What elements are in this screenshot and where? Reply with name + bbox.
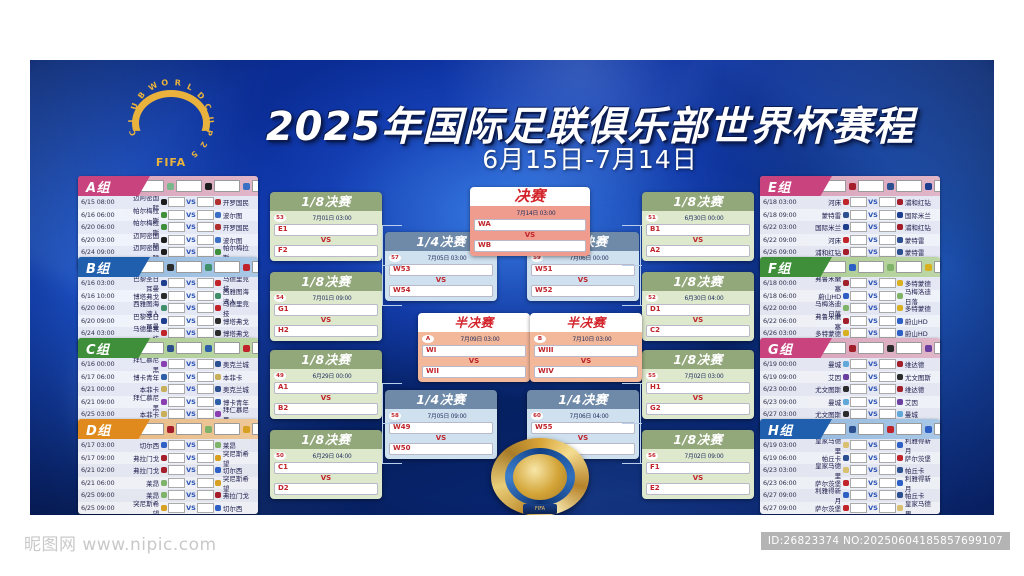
group-team-slot[interactable]: [887, 261, 922, 273]
team-input-box[interactable]: [252, 180, 258, 192]
home-score-box[interactable]: [168, 372, 185, 382]
home-score-box[interactable]: [850, 465, 867, 475]
group-team-slot[interactable]: [887, 423, 922, 435]
home-score-box[interactable]: [850, 490, 867, 500]
away-team-name: 国际米兰: [903, 210, 937, 220]
vs-label: VS: [868, 504, 878, 512]
home-score-box[interactable]: [850, 384, 867, 394]
home-team-name: 艾因: [809, 372, 843, 382]
away-slot[interactable]: E2: [646, 483, 750, 495]
away-score-box[interactable]: [879, 465, 896, 475]
group-name-badge: F组: [760, 257, 832, 277]
match-datetime: 6/19 03:00: [763, 441, 809, 449]
round16-match-55[interactable]: 1/8决赛557月02日 03:00H1VSG2: [642, 350, 754, 419]
team-input-box[interactable]: [214, 423, 240, 435]
home-score-box[interactable]: [850, 316, 867, 326]
home-crest-icon: [843, 249, 849, 255]
team-crest-icon: [243, 426, 250, 433]
vs-label: VS: [186, 279, 196, 287]
home-score-box[interactable]: [168, 440, 185, 450]
away-score-box[interactable]: [879, 222, 896, 232]
home-score-box[interactable]: [168, 478, 185, 488]
away-score-box[interactable]: [879, 303, 896, 313]
match-number: 49: [274, 372, 286, 380]
away-score-box[interactable]: [197, 222, 214, 232]
home-crest-icon: [161, 199, 167, 205]
round-title: 决赛: [470, 187, 590, 206]
team-input-box[interactable]: [896, 180, 922, 192]
home-score-box[interactable]: [168, 490, 185, 500]
group-header: E组: [760, 176, 940, 196]
vs-label: VS: [868, 360, 878, 368]
team-input-box[interactable]: [252, 261, 258, 273]
group-team-slot[interactable]: [925, 180, 940, 192]
away-score-box[interactable]: [879, 197, 896, 207]
vs-label: VS: [186, 236, 196, 244]
group-team-slot[interactable]: [243, 342, 258, 354]
team-input-box[interactable]: [176, 180, 202, 192]
group-team-slot[interactable]: [925, 342, 940, 354]
team-input-box[interactable]: [896, 261, 922, 273]
group-team-slot[interactable]: [887, 180, 922, 192]
vs-label: VS: [868, 466, 878, 474]
home-crest-icon: [161, 399, 167, 405]
away-score-box[interactable]: [879, 316, 896, 326]
home-slot[interactable]: C1: [274, 462, 378, 474]
home-slot[interactable]: B1: [646, 224, 750, 236]
round-body: 567月02日 09:00F1VSE2: [642, 449, 754, 499]
trophy-base-label: FIFA: [523, 504, 557, 514]
home-score-box[interactable]: [850, 478, 867, 488]
away-score-box[interactable]: [197, 372, 214, 382]
away-score-box[interactable]: [197, 359, 214, 369]
group-team-slot[interactable]: [205, 342, 240, 354]
home-slot[interactable]: F1: [646, 462, 750, 474]
team-crest-icon: [849, 345, 856, 352]
group-team-slot[interactable]: [243, 423, 258, 435]
home-score-box[interactable]: [168, 316, 185, 326]
team-input-box[interactable]: [858, 261, 884, 273]
home-score-box[interactable]: [850, 503, 867, 513]
team-input-box[interactable]: [214, 342, 240, 354]
match-time: 7月05日 09:00: [401, 411, 493, 420]
away-team-name: 浦和红钻: [903, 222, 937, 232]
away-score-box[interactable]: [197, 478, 214, 488]
home-crest-icon: [161, 442, 167, 448]
team-input-box[interactable]: [934, 423, 940, 435]
home-score-box[interactable]: [168, 359, 185, 369]
home-score-box[interactable]: [850, 372, 867, 382]
team-input-box[interactable]: [176, 261, 202, 273]
team-input-box[interactable]: [896, 423, 922, 435]
home-score-box[interactable]: [850, 235, 867, 245]
vs-label: VS: [274, 236, 378, 245]
home-crest-icon: [161, 293, 167, 299]
match-datetime: 6/22 00:00: [763, 304, 809, 312]
away-slot[interactable]: F2: [274, 245, 378, 257]
group-team-slot[interactable]: [243, 261, 258, 273]
home-score-box[interactable]: [168, 303, 185, 313]
group-team-slot[interactable]: [925, 261, 940, 273]
home-crest-icon: [843, 374, 849, 380]
group-match-row: 6/16 00:00拜仁慕尼黑VS奥克兰城: [78, 358, 258, 371]
team-crest-icon: [243, 345, 250, 352]
away-score-box[interactable]: [197, 440, 214, 450]
match-time: 7月06日 04:00: [543, 411, 635, 420]
match-time: 7月01日 09:00: [286, 293, 378, 302]
away-team-name: 切尔西: [221, 503, 255, 513]
vs-label: VS: [868, 223, 878, 231]
away-score-box[interactable]: [197, 465, 214, 475]
match-time: 7月02日 09:00: [658, 451, 750, 460]
home-team-name: 博卡青年: [127, 372, 161, 382]
vs-label: VS: [186, 223, 196, 231]
away-slot[interactable]: C2: [646, 325, 750, 337]
match-meta: 506月29日 04:00: [274, 451, 378, 460]
group-name-badge: D组: [78, 419, 150, 439]
group-match-row: 6/17 09:00弗拉门戈VS突尼斯希望: [78, 452, 258, 465]
group-team-slot[interactable]: [849, 261, 884, 273]
round16-match-54[interactable]: 1/8决赛547月01日 09:00G1VSH2: [270, 272, 382, 341]
away-score-box[interactable]: [197, 453, 214, 463]
home-score-box[interactable]: [850, 278, 867, 288]
away-slot[interactable]: A2: [646, 245, 750, 257]
bracket-connector: [382, 225, 402, 226]
home-score-box[interactable]: [168, 210, 185, 220]
match-number: 55: [646, 372, 658, 380]
home-crest-icon: [843, 280, 849, 286]
vs-label: VS: [868, 279, 878, 287]
home-slot[interactable]: A1: [274, 382, 378, 394]
home-slot[interactable]: E1: [274, 224, 378, 236]
away-score-box[interactable]: [879, 490, 896, 500]
group-team-slot[interactable]: [849, 342, 884, 354]
round16-match-49[interactable]: 1/8决赛496月29日 00:00A1VSB2: [270, 350, 382, 419]
away-score-box[interactable]: [879, 278, 896, 288]
away-score-box[interactable]: [879, 210, 896, 220]
vs-label: VS: [868, 329, 878, 337]
match-datetime: 6/21 06:00: [81, 479, 127, 487]
home-score-box[interactable]: [168, 291, 185, 301]
vs-label: VS: [868, 491, 878, 499]
match-number: 50: [274, 452, 286, 460]
group-match-row: 6/22 06:00弗鲁米嫩塞VS蔚山HD: [760, 315, 940, 328]
home-score-box[interactable]: [850, 197, 867, 207]
group-team-slot[interactable]: [167, 423, 202, 435]
match-datetime: 6/25 03:00: [81, 410, 127, 418]
away-score-box[interactable]: [197, 503, 214, 513]
away-score-box[interactable]: [197, 247, 214, 257]
away-score-box[interactable]: [879, 478, 896, 488]
match-meta: 526月30日 04:00: [646, 293, 750, 302]
away-score-box[interactable]: [879, 359, 896, 369]
semifinal-match-b[interactable]: 半决赛B7月10日 03:00WIIIVSWIV: [530, 313, 642, 382]
trophy-graphic: FIFA WINNER: [485, 438, 595, 515]
team-crest-icon: [205, 264, 212, 271]
group-match-row: 6/22 03:00国际米兰VS浦和红钻: [760, 221, 940, 234]
round16-match-53[interactable]: 1/8决赛537月01日 03:00E1VSF2: [270, 192, 382, 261]
home-crest-icon: [843, 237, 849, 243]
away-score-box[interactable]: [879, 453, 896, 463]
vs-label: VS: [186, 211, 196, 219]
home-slot[interactable]: WIII: [534, 345, 638, 357]
team-input-box[interactable]: [858, 342, 884, 354]
vs-label: VS: [186, 304, 196, 312]
away-score-box[interactable]: [879, 440, 896, 450]
away-score-box[interactable]: [879, 409, 896, 419]
quarterfinal-match-58[interactable]: 1/4决赛587月05日 09:00W49VSW50: [385, 390, 497, 459]
group-team-slot[interactable]: [205, 261, 240, 273]
away-score-box[interactable]: [197, 328, 214, 338]
away-team-name: 维达德: [903, 384, 937, 394]
away-score-box[interactable]: [879, 291, 896, 301]
home-score-box[interactable]: [168, 247, 185, 257]
home-score-box[interactable]: [850, 440, 867, 450]
home-score-box[interactable]: [168, 397, 185, 407]
away-score-box[interactable]: [879, 384, 896, 394]
bracket-connector: [382, 463, 402, 464]
away-score-box[interactable]: [197, 278, 214, 288]
vs-label: VS: [868, 385, 878, 393]
home-crest-icon: [161, 505, 167, 511]
match-datetime: 6/21 02:00: [81, 466, 127, 474]
home-score-box[interactable]: [850, 303, 867, 313]
home-score-box[interactable]: [850, 397, 867, 407]
away-slot[interactable]: D2: [274, 483, 378, 495]
round16-match-50[interactable]: 1/8决赛506月29日 04:00C1VSD2: [270, 430, 382, 499]
group-team-slot[interactable]: [243, 180, 258, 192]
match-meta: 537月01日 03:00: [274, 213, 378, 222]
home-score-box[interactable]: [168, 503, 185, 513]
round-body: 506月29日 04:00C1VSD2: [270, 449, 382, 499]
home-slot[interactable]: G1: [274, 304, 378, 316]
home-crest-icon: [843, 480, 849, 486]
group-header: H组: [760, 419, 940, 439]
home-score-box[interactable]: [168, 222, 185, 232]
home-crest-icon: [161, 480, 167, 486]
home-slot[interactable]: W53: [389, 264, 493, 276]
match-datetime: 6/20 03:00: [81, 236, 127, 244]
away-score-box[interactable]: [879, 372, 896, 382]
team-input-box[interactable]: [858, 180, 884, 192]
home-score-box[interactable]: [850, 328, 867, 338]
group-team-slot[interactable]: [205, 180, 240, 192]
group-team-slot[interactable]: [887, 342, 922, 354]
team-input-box[interactable]: [176, 342, 202, 354]
away-score-box[interactable]: [197, 490, 214, 500]
away-score-box[interactable]: [879, 247, 896, 257]
away-slot[interactable]: WIV: [534, 366, 638, 378]
away-score-box[interactable]: [197, 235, 214, 245]
match-datetime: 6/25 09:00: [81, 491, 127, 499]
group-name-badge: H组: [760, 419, 832, 439]
team-crest-icon: [887, 264, 894, 271]
away-score-box[interactable]: [879, 235, 896, 245]
away-slot[interactable]: B2: [274, 403, 378, 415]
vs-label: VS: [186, 329, 196, 337]
home-slot[interactable]: W51: [531, 264, 635, 276]
home-team-name: 曼城: [809, 359, 843, 369]
home-slot[interactable]: W55: [531, 422, 635, 434]
round-body: A7月09日 03:00WIVSWII: [418, 332, 530, 382]
home-team-name: 尤文图斯: [809, 384, 843, 394]
away-score-box[interactable]: [197, 384, 214, 394]
away-slot[interactable]: WII: [422, 366, 526, 378]
match-datetime: 6/27 09:00: [763, 491, 809, 499]
away-slot[interactable]: W54: [389, 285, 493, 297]
team-input-box[interactable]: [934, 261, 940, 273]
round-body: 537月01日 03:00E1VSF2: [270, 211, 382, 261]
match-datetime: 6/17 09:00: [81, 454, 127, 462]
away-score-box[interactable]: [879, 328, 896, 338]
match-datetime: 6/24 03:00: [81, 329, 127, 337]
vs-label: VS: [186, 385, 196, 393]
home-score-box[interactable]: [850, 453, 867, 463]
bracket-connector: [622, 265, 642, 266]
home-crest-icon: [843, 505, 849, 511]
home-score-box[interactable]: [850, 291, 867, 301]
home-score-box[interactable]: [850, 222, 867, 232]
round16-match-51[interactable]: 1/8决赛516月30日 00:00B1VSA2: [642, 192, 754, 261]
home-score-box[interactable]: [168, 409, 185, 419]
away-slot[interactable]: G2: [646, 403, 750, 415]
home-team-name: 蒙特雷: [809, 210, 843, 220]
home-crest-icon: [161, 330, 167, 336]
round-title: 1/8决赛: [642, 272, 754, 291]
group-team-slot[interactable]: [205, 423, 240, 435]
home-team-name: 弗拉门戈: [127, 453, 161, 463]
away-score-box[interactable]: [197, 316, 214, 326]
home-team-name: 尤文图斯: [809, 409, 843, 419]
team-input-box[interactable]: [214, 261, 240, 273]
home-crest-icon: [161, 318, 167, 324]
away-team-name: 蔚山HD: [903, 316, 937, 326]
round16-match-56[interactable]: 1/8决赛567月02日 09:00F1VSE2: [642, 430, 754, 499]
home-slot[interactable]: D1: [646, 304, 750, 316]
group-match-row: 6/18 06:00蔚山HDVS马梅洛迪日落: [760, 290, 940, 303]
group-team-slot[interactable]: [167, 180, 202, 192]
away-slot[interactable]: WB: [474, 240, 586, 252]
team-crest-icon: [925, 426, 932, 433]
round-title: 半决赛: [530, 313, 642, 332]
bracket-connector: [622, 305, 642, 306]
away-score-box[interactable]: [197, 197, 214, 207]
home-score-box[interactable]: [850, 210, 867, 220]
group-name-badge: G组: [760, 338, 832, 358]
team-crest-icon: [849, 264, 856, 271]
team-input-box[interactable]: [252, 423, 258, 435]
group-team-slot[interactable]: [925, 423, 940, 435]
round-title: 1/4决赛: [527, 390, 639, 409]
bracket-connector: [622, 225, 642, 226]
group-match-row: 6/19 00:00曼城VS维达德: [760, 358, 940, 371]
match-number: 58: [389, 412, 401, 420]
group-header: A组: [78, 176, 258, 196]
team-input-box[interactable]: [858, 423, 884, 435]
home-score-box[interactable]: [850, 409, 867, 419]
home-score-box[interactable]: [850, 359, 867, 369]
home-team-name: 河床: [809, 197, 843, 207]
away-score-box[interactable]: [197, 291, 214, 301]
semifinal-match-a[interactable]: 半决赛A7月09日 03:00WIVSWII: [418, 313, 530, 382]
vs-label: VS: [274, 394, 378, 403]
team-crest-icon: [849, 183, 856, 190]
home-score-box[interactable]: [168, 384, 185, 394]
away-slot[interactable]: W50: [389, 443, 493, 455]
round-title: 1/8决赛: [270, 192, 382, 211]
vs-label: VS: [646, 316, 750, 325]
away-team-name: 奥克兰城: [221, 384, 255, 394]
team-input-box[interactable]: [214, 180, 240, 192]
home-slot[interactable]: WI: [422, 345, 526, 357]
match-number: 56: [646, 452, 658, 460]
away-slot[interactable]: H2: [274, 325, 378, 337]
round-title: 1/8决赛: [642, 192, 754, 211]
away-score-box[interactable]: [879, 503, 896, 513]
group-team-slot[interactable]: [849, 423, 884, 435]
group-match-row: 6/25 09:00莱昂VS弗拉门戈: [78, 489, 258, 502]
home-score-box[interactable]: [168, 278, 185, 288]
away-score-box[interactable]: [197, 409, 214, 419]
team-input-box[interactable]: [934, 342, 940, 354]
group-team-slot[interactable]: [849, 180, 884, 192]
round16-match-52[interactable]: 1/8决赛526月30日 04:00D1VSC2: [642, 272, 754, 341]
away-score-box[interactable]: [197, 397, 214, 407]
match-number: 54: [274, 294, 286, 302]
away-score-box[interactable]: [197, 303, 214, 313]
team-input-box[interactable]: [934, 180, 940, 192]
home-crest-icon: [161, 249, 167, 255]
group-match-row: 6/23 09:00曼城VS艾因: [760, 396, 940, 409]
match-number: 53: [274, 214, 286, 222]
group-name-badge: C组: [78, 338, 150, 358]
team-input-box[interactable]: [252, 342, 258, 354]
home-slot[interactable]: W49: [389, 422, 493, 434]
match-datetime: 6/23 09:00: [763, 398, 809, 406]
group-match-row: 6/19 03:00皇家马德里VS利雅得新月: [760, 439, 940, 452]
match-meta: A7月09日 03:00: [422, 334, 526, 343]
home-score-box[interactable]: [168, 465, 185, 475]
home-team-name: 突尼斯希望: [127, 498, 161, 514]
group-team-slot[interactable]: [167, 261, 202, 273]
home-crest-icon: [161, 467, 167, 473]
match-datetime: 6/18 03:00: [763, 198, 809, 206]
home-score-box[interactable]: [850, 247, 867, 257]
match-time: 6月30日 04:00: [658, 293, 750, 302]
group-team-slot[interactable]: [167, 342, 202, 354]
home-score-box[interactable]: [168, 453, 185, 463]
home-score-box[interactable]: [168, 235, 185, 245]
team-input-box[interactable]: [176, 423, 202, 435]
home-team-name: 本菲卡: [127, 409, 161, 419]
home-score-box[interactable]: [168, 197, 185, 207]
home-score-box[interactable]: [168, 328, 185, 338]
home-slot[interactable]: WA: [474, 219, 586, 231]
match-number: A: [422, 335, 434, 343]
final-match[interactable]: 决赛7月14日 03:00WAVSWB: [470, 187, 590, 256]
away-team-name: 博塔弗戈: [221, 316, 255, 326]
home-slot[interactable]: H1: [646, 382, 750, 394]
home-crest-icon: [161, 492, 167, 498]
team-input-box[interactable]: [896, 342, 922, 354]
away-score-box[interactable]: [879, 397, 896, 407]
vs-label: VS: [531, 276, 635, 285]
away-slot[interactable]: W52: [531, 285, 635, 297]
home-crest-icon: [843, 455, 849, 461]
team-crest-icon: [243, 264, 250, 271]
away-team-name: 维达德: [903, 359, 937, 369]
away-score-box[interactable]: [197, 210, 214, 220]
